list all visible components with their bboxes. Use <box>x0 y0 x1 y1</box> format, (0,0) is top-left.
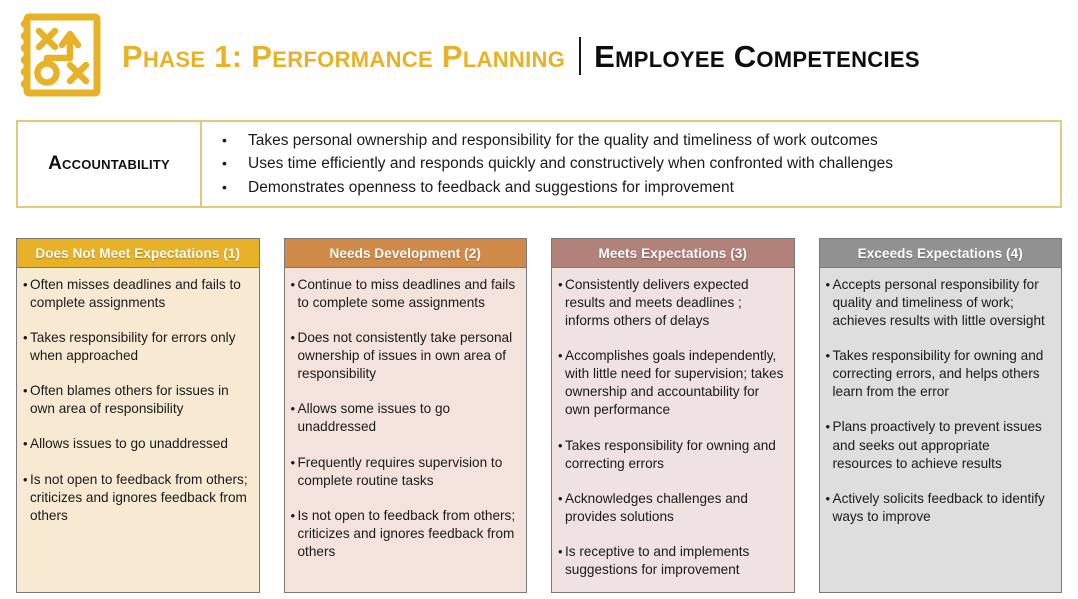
rating-bullet-text: Takes responsibility for owning and corr… <box>565 437 786 473</box>
bullet-icon: • <box>291 454 298 471</box>
bullet-icon: • <box>291 507 298 524</box>
bullet-icon: • <box>826 418 833 435</box>
list-item: • Frequently requires supervision to com… <box>291 454 519 490</box>
rating-bullet-text: Takes responsibility for errors only whe… <box>30 329 251 365</box>
list-item: • Takes personal ownership and responsib… <box>222 129 1050 153</box>
rating-bullet-text: Continue to miss deadlines and fails to … <box>298 276 519 312</box>
rating-bullet-text: Often blames others for issues in own ar… <box>30 382 251 418</box>
bullet-icon: • <box>558 490 565 507</box>
bullet-icon: • <box>23 382 30 399</box>
slide-root: Phase 1: Performance Planning Employee C… <box>0 0 1078 599</box>
rating-bullet-text: Allows some issues to go unaddressed <box>298 400 519 436</box>
bullet-icon: • <box>558 276 565 293</box>
rating-bullet-text: Is receptive to and implements suggestio… <box>565 543 786 579</box>
list-item: • Demonstrates openness to feedback and … <box>222 176 1050 200</box>
list-item: • Is not open to feedback from others; c… <box>23 471 251 525</box>
rating-column-needs-development: Needs Development (2) • Continue to miss… <box>284 238 528 593</box>
rating-bullet-text: Does not consistently take personal owne… <box>298 329 519 383</box>
rating-body: • Accepts personal responsibility for qu… <box>819 268 1063 593</box>
title-divider <box>579 37 581 75</box>
title-phase-text: Phase 1: Performance Planning <box>122 41 565 72</box>
rating-bullet-text: Accomplishes goals independently, with l… <box>565 347 786 419</box>
list-item: • Takes responsibility for errors only w… <box>23 329 251 365</box>
competency-bullet-text: Uses time efficiently and responds quick… <box>248 152 1050 176</box>
bullet-icon: • <box>291 329 298 346</box>
list-item: • Continue to miss deadlines and fails t… <box>291 276 519 312</box>
rating-bullet-text: Accepts personal responsibility for qual… <box>833 276 1054 330</box>
list-item: • Takes responsibility for owning and co… <box>826 347 1054 401</box>
list-item: • Allows some issues to go unaddressed <box>291 400 519 436</box>
bullet-icon: • <box>826 276 833 293</box>
rating-bullet-text: Often misses deadlines and fails to comp… <box>30 276 251 312</box>
page-title: Phase 1: Performance Planning Employee C… <box>122 30 920 82</box>
rating-bullet-text: Allows issues to go unaddressed <box>30 435 251 453</box>
slide-header: Phase 1: Performance Planning Employee C… <box>0 0 1078 110</box>
title-employee-text: Employee Competencies <box>594 41 920 72</box>
bullet-icon: • <box>222 176 248 198</box>
list-item: • Acknowledges challenges and provides s… <box>558 490 786 526</box>
bullet-icon: • <box>23 435 30 452</box>
rating-body: • Often misses deadlines and fails to co… <box>16 268 260 593</box>
bullet-icon: • <box>558 437 565 454</box>
rating-bullet-text: Is not open to feedback from others; cri… <box>298 507 519 561</box>
competency-bullet-text: Demonstrates openness to feedback and su… <box>248 176 1050 200</box>
competency-bullet-text: Takes personal ownership and responsibil… <box>248 129 1050 153</box>
bullet-icon: • <box>23 471 30 488</box>
bullet-icon: • <box>23 276 30 293</box>
rating-columns: Does Not Meet Expectations (1) • Often m… <box>16 238 1062 593</box>
list-item: • Often misses deadlines and fails to co… <box>23 276 251 312</box>
list-item: • Often blames others for issues in own … <box>23 382 251 418</box>
list-item: • Is not open to feedback from others; c… <box>291 507 519 561</box>
rating-bullet-text: Consistently delivers expected results a… <box>565 276 786 330</box>
rating-column-does-not-meet-expectations: Does Not Meet Expectations (1) • Often m… <box>16 238 260 593</box>
list-item: • Is receptive to and implements suggest… <box>558 543 786 579</box>
bullet-icon: • <box>291 276 298 293</box>
list-item: • Does not consistently take personal ow… <box>291 329 519 383</box>
list-item: • Plans proactively to prevent issues an… <box>826 418 1054 472</box>
rating-header: Needs Development (2) <box>284 238 528 268</box>
competency-definition-box: Accountability • Takes personal ownershi… <box>16 120 1062 208</box>
bullet-icon: • <box>222 129 248 151</box>
rating-header: Does Not Meet Expectations (1) <box>16 238 260 268</box>
list-item: • Uses time efficiently and responds qui… <box>222 152 1050 176</box>
bullet-icon: • <box>558 347 565 364</box>
competency-label-cell: Accountability <box>18 122 202 206</box>
rating-column-meets-expectations: Meets Expectations (3) • Consistently de… <box>551 238 795 593</box>
competency-bullet-list: • Takes personal ownership and responsib… <box>202 122 1060 206</box>
list-item: • Allows issues to go unaddressed <box>23 435 251 453</box>
bullet-icon: • <box>23 329 30 346</box>
rating-bullet-text: Is not open to feedback from others; cri… <box>30 471 251 525</box>
bullet-icon: • <box>558 543 565 560</box>
rating-body: • Consistently delivers expected results… <box>551 268 795 593</box>
list-item: • Takes responsibility for owning and co… <box>558 437 786 473</box>
bullet-icon: • <box>291 400 298 417</box>
list-item: • Accomplishes goals independently, with… <box>558 347 786 419</box>
rating-bullet-text: Actively solicits feedback to identify w… <box>833 490 1054 526</box>
rating-header: Meets Expectations (3) <box>551 238 795 268</box>
rating-bullet-text: Takes responsibility for owning and corr… <box>833 347 1054 401</box>
rating-body: • Continue to miss deadlines and fails t… <box>284 268 528 593</box>
list-item: • Consistently delivers expected results… <box>558 276 786 330</box>
list-item: • Actively solicits feedback to identify… <box>826 490 1054 526</box>
rating-header: Exceeds Expectations (4) <box>819 238 1063 268</box>
bullet-icon: • <box>222 152 248 174</box>
bullet-icon: • <box>826 347 833 364</box>
rating-column-exceeds-expectations: Exceeds Expectations (4) • Accepts perso… <box>819 238 1063 593</box>
bullet-icon: • <box>826 490 833 507</box>
rating-bullet-text: Acknowledges challenges and provides sol… <box>565 490 786 526</box>
competency-label: Accountability <box>48 153 170 175</box>
rating-bullet-text: Frequently requires supervision to compl… <box>298 454 519 490</box>
strategy-playbook-icon <box>14 9 106 101</box>
rating-bullet-text: Plans proactively to prevent issues and … <box>833 418 1054 472</box>
list-item: • Accepts personal responsibility for qu… <box>826 276 1054 330</box>
